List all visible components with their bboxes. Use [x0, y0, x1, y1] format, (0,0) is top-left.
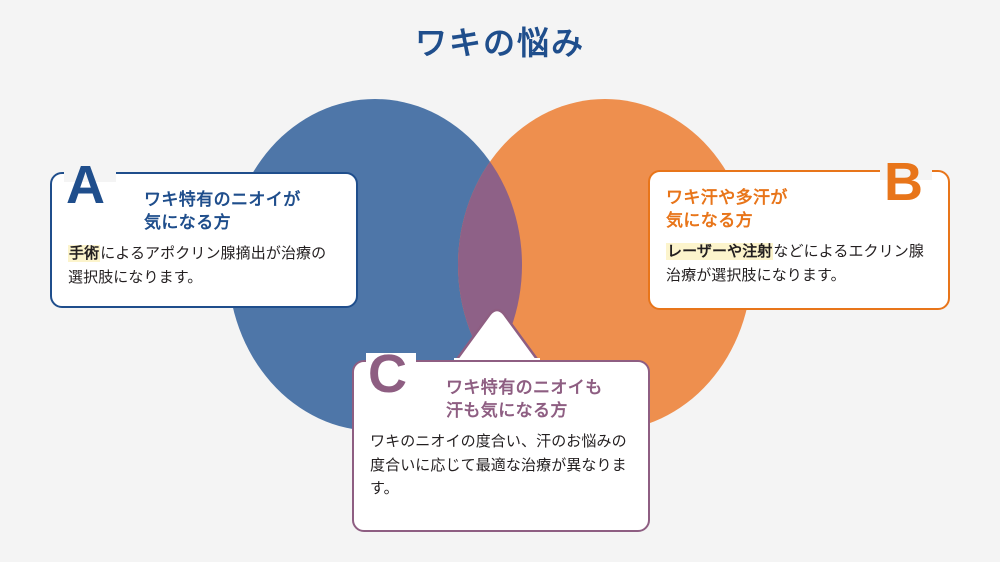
callout-c-letter: C: [368, 347, 407, 401]
callout-a-body-rest: によるアポクリン腺摘出が治療の選択肢になります。: [68, 245, 326, 286]
infographic-canvas: ワキの悩み ワキ特有のニオイが 気になる方 手術によるアポクリン腺摘出が治療の選…: [0, 0, 1000, 562]
callout-a-keyword: 手術: [68, 245, 100, 262]
callout-b-letter: B: [884, 155, 923, 209]
callout-a-body: 手術によるアポクリン腺摘出が治療の選択肢になります。: [68, 242, 340, 289]
callout-a-letter: A: [66, 158, 105, 212]
callout-b-keyword: レーザーや注射: [666, 243, 773, 260]
callout-c-heading: ワキ特有のニオイも 汗も気になる方: [370, 376, 632, 423]
callout-c-body: ワキのニオイの度合い、汗のお悩みの度合いに応じて最適な治療が異なります。: [370, 430, 632, 501]
callout-a-heading: ワキ特有のニオイが 気になる方: [68, 188, 340, 235]
callout-b-body: レーザーや注射などによるエクリン腺治療が選択肢になります。: [666, 240, 932, 287]
